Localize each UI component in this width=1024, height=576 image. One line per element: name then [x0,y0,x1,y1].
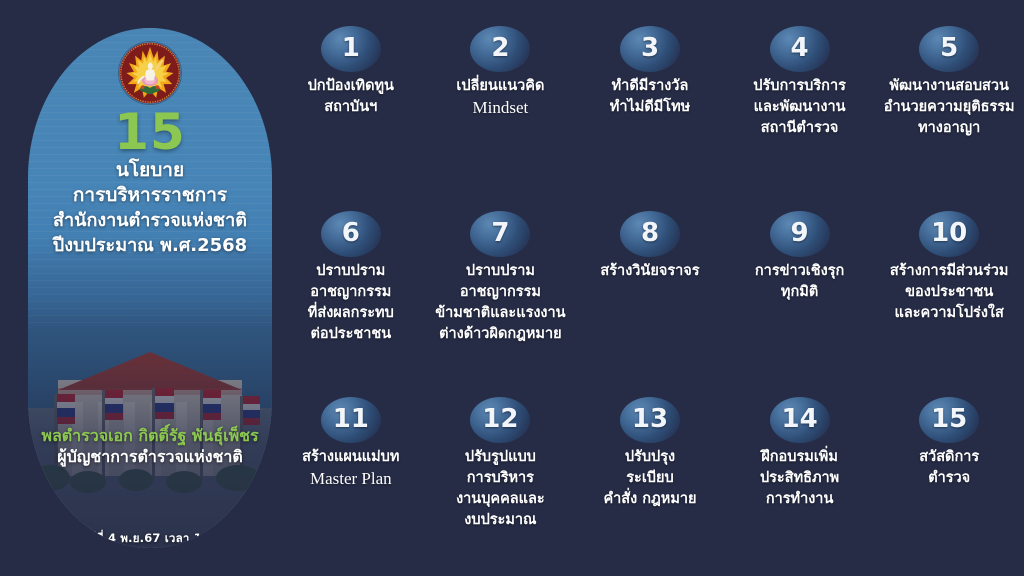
policy-badge-8: 8 [620,211,680,257]
policy-label-latin-2: Mindset [473,98,529,117]
policy-number-11: 11 [333,406,369,432]
policy-badge-1: 1 [321,26,381,72]
policy-item-5: 5พัฒนางานสอบสวน อำนวยความยุติธรรม ทางอาญ… [874,14,1024,199]
commissioner-name: พลตำรวจเอก กิตติ์รัฐ พันธุ์เพ็ชร [41,426,258,446]
policy-label-15: สวัสดิการ ตำรวจ [919,447,979,489]
policy-number-14: 14 [782,406,818,432]
hero-title-line-1: นโยบาย [116,158,184,183]
policy-item-14: 14ฝึกอบรมเพิ่ม ประสิทธิภาพ การทำงาน [725,385,875,570]
policy-label-6: ปราบปราม อาชญากรรม ที่ส่งผลกระทบ ต่อประช… [308,261,394,345]
policy-label-2: เปลี่ยนแนวคิดMindset [456,76,544,120]
policy-label-8: สร้างวินัยจราจร [600,261,699,282]
hero-policy-count: 15 [114,106,186,158]
policy-item-13: 13ปรับปรุง ระเบียบ คำสั่ง กฎหมาย [575,385,725,570]
policy-label-thai-13: ปรับปรุง ระเบียบ คำสั่ง กฎหมาย [603,449,696,507]
policy-badge-3: 3 [620,26,680,72]
policy-number-8: 8 [641,220,659,246]
policy-item-8: 8สร้างวินัยจราจร [575,199,725,384]
policy-badge-10: 10 [919,211,979,257]
policy-badge-12: 12 [470,397,530,443]
policy-label-13: ปรับปรุง ระเบียบ คำสั่ง กฎหมาย [603,447,696,510]
policy-badge-6: 6 [321,211,381,257]
policy-item-7: 7ปราบปราม อาชญากรรม ข้ามชาติและแรงงาน ต่… [426,199,576,384]
policy-label-thai-1: ปกป้องเทิดทูน สถาบันฯ [308,78,394,115]
infographic-canvas: 15 นโยบาย การบริหารราชการ สำนักงานตำรวจแ… [0,0,1024,576]
hero-title-line-2: การบริหารราชการ [73,183,227,208]
hero-panel: 15 นโยบาย การบริหารราชการ สำนักงานตำรวจแ… [28,28,272,548]
policy-label-thai-5: พัฒนางานสอบสวน อำนวยความยุติธรรม ทางอาญา [884,78,1015,136]
policy-label-9: การข่าวเชิงรุก ทุกมิติ [755,261,844,303]
commissioner-title: ผู้บัญชาการตำรวจแห่งชาติ [57,446,243,468]
policy-number-7: 7 [491,220,509,246]
policy-number-3: 3 [641,35,659,61]
policy-label-thai-14: ฝึกอบรมเพิ่ม ประสิทธิภาพ การทำงาน [760,449,839,507]
policy-label-thai-3: ทำดีมีรางวัล ทำไม่ดีมีโทษ [610,78,690,115]
policy-badge-14: 14 [770,397,830,443]
policy-label-latin-11: Master Plan [310,469,392,488]
policy-badge-9: 9 [770,211,830,257]
policy-label-thai-9: การข่าวเชิงรุก ทุกมิติ [755,263,844,300]
policy-badge-7: 7 [470,211,530,257]
policy-label-14: ฝึกอบรมเพิ่ม ประสิทธิภาพ การทำงาน [760,447,839,510]
royal-thai-police-emblem-icon [119,42,181,104]
hero-title-line-3: สำนักงานตำรวจแห่งชาติ [53,208,247,233]
policy-label-7: ปราบปราม อาชญากรรม ข้ามชาติและแรงงาน ต่า… [435,261,565,345]
policy-badge-15: 15 [919,397,979,443]
policy-item-4: 4ปรับการบริการ และพัฒนางาน สถานีตำรวจ [725,14,875,199]
policy-label-3: ทำดีมีรางวัล ทำไม่ดีมีโทษ [610,76,690,118]
policy-number-10: 10 [931,220,967,246]
policy-label-4: ปรับการบริการ และพัฒนางาน สถานีตำรวจ [753,76,846,139]
policy-label-thai-10: สร้างการมีส่วนร่วม ของประชาชน และความโปร… [890,263,1009,321]
policy-number-13: 13 [632,406,668,432]
policy-item-9: 9การข่าวเชิงรุก ทุกมิติ [725,199,875,384]
policy-number-9: 9 [791,220,809,246]
policy-item-3: 3ทำดีมีรางวัล ทำไม่ดีมีโทษ [575,14,725,199]
policy-badge-13: 13 [620,397,680,443]
event-datetime: วันจันทร์ที่ 4 พ.ย.67 เวลา 14.00 น. [52,530,248,548]
policy-item-10: 10สร้างการมีส่วนร่วม ของประชาชน และความโ… [874,199,1024,384]
policy-label-thai-2: เปลี่ยนแนวคิด [456,78,544,94]
policy-badge-11: 11 [321,397,381,443]
policy-item-6: 6ปราบปราม อาชญากรรม ที่ส่งผลกระทบ ต่อประ… [276,199,426,384]
policy-item-11: 11สร้างแผนแม่บทMaster Plan [276,385,426,570]
policy-label-thai-8: สร้างวินัยจราจร [600,263,699,279]
policy-item-1: 1ปกป้องเทิดทูน สถาบันฯ [276,14,426,199]
hero-title-line-4: ปีงบประมาณ พ.ศ.2568 [53,233,247,258]
policy-number-1: 1 [342,35,360,61]
policy-item-12: 12ปรับรูปแบบ การบริหาร งานบุคคลและ งบประ… [426,385,576,570]
policy-grid: 1ปกป้องเทิดทูน สถาบันฯ2เปลี่ยนแนวคิดMind… [276,14,1024,570]
policy-label-thai-6: ปราบปราม อาชญากรรม ที่ส่งผลกระทบ ต่อประช… [308,263,394,342]
policy-label-thai-15: สวัสดิการ ตำรวจ [919,449,979,486]
policy-number-5: 5 [940,35,958,61]
policy-badge-2: 2 [470,26,530,72]
policy-label-10: สร้างการมีส่วนร่วม ของประชาชน และความโปร… [890,261,1009,324]
policy-label-thai-11: สร้างแผนแม่บท [302,449,399,465]
hero-content: 15 นโยบาย การบริหารราชการ สำนักงานตำรวจแ… [28,28,272,548]
policy-item-15: 15สวัสดิการ ตำรวจ [874,385,1024,570]
policy-label-thai-4: ปรับการบริการ และพัฒนางาน สถานีตำรวจ [753,78,846,136]
policy-number-6: 6 [342,220,360,246]
policy-number-4: 4 [791,35,809,61]
policy-item-2: 2เปลี่ยนแนวคิดMindset [426,14,576,199]
policy-label-thai-7: ปราบปราม อาชญากรรม ข้ามชาติและแรงงาน ต่า… [435,263,565,342]
policy-label-11: สร้างแผนแม่บทMaster Plan [302,447,399,491]
policy-label-thai-12: ปรับรูปแบบ การบริหาร งานบุคคลและ งบประมา… [456,449,545,528]
policy-badge-5: 5 [919,26,979,72]
policy-label-12: ปรับรูปแบบ การบริหาร งานบุคคลและ งบประมา… [456,447,545,531]
policy-label-1: ปกป้องเทิดทูน สถาบันฯ [308,76,394,118]
policy-number-12: 12 [482,406,518,432]
policy-label-5: พัฒนางานสอบสวน อำนวยความยุติธรรม ทางอาญา [884,76,1015,139]
policy-number-15: 15 [931,406,967,432]
policy-badge-4: 4 [770,26,830,72]
policy-number-2: 2 [491,35,509,61]
